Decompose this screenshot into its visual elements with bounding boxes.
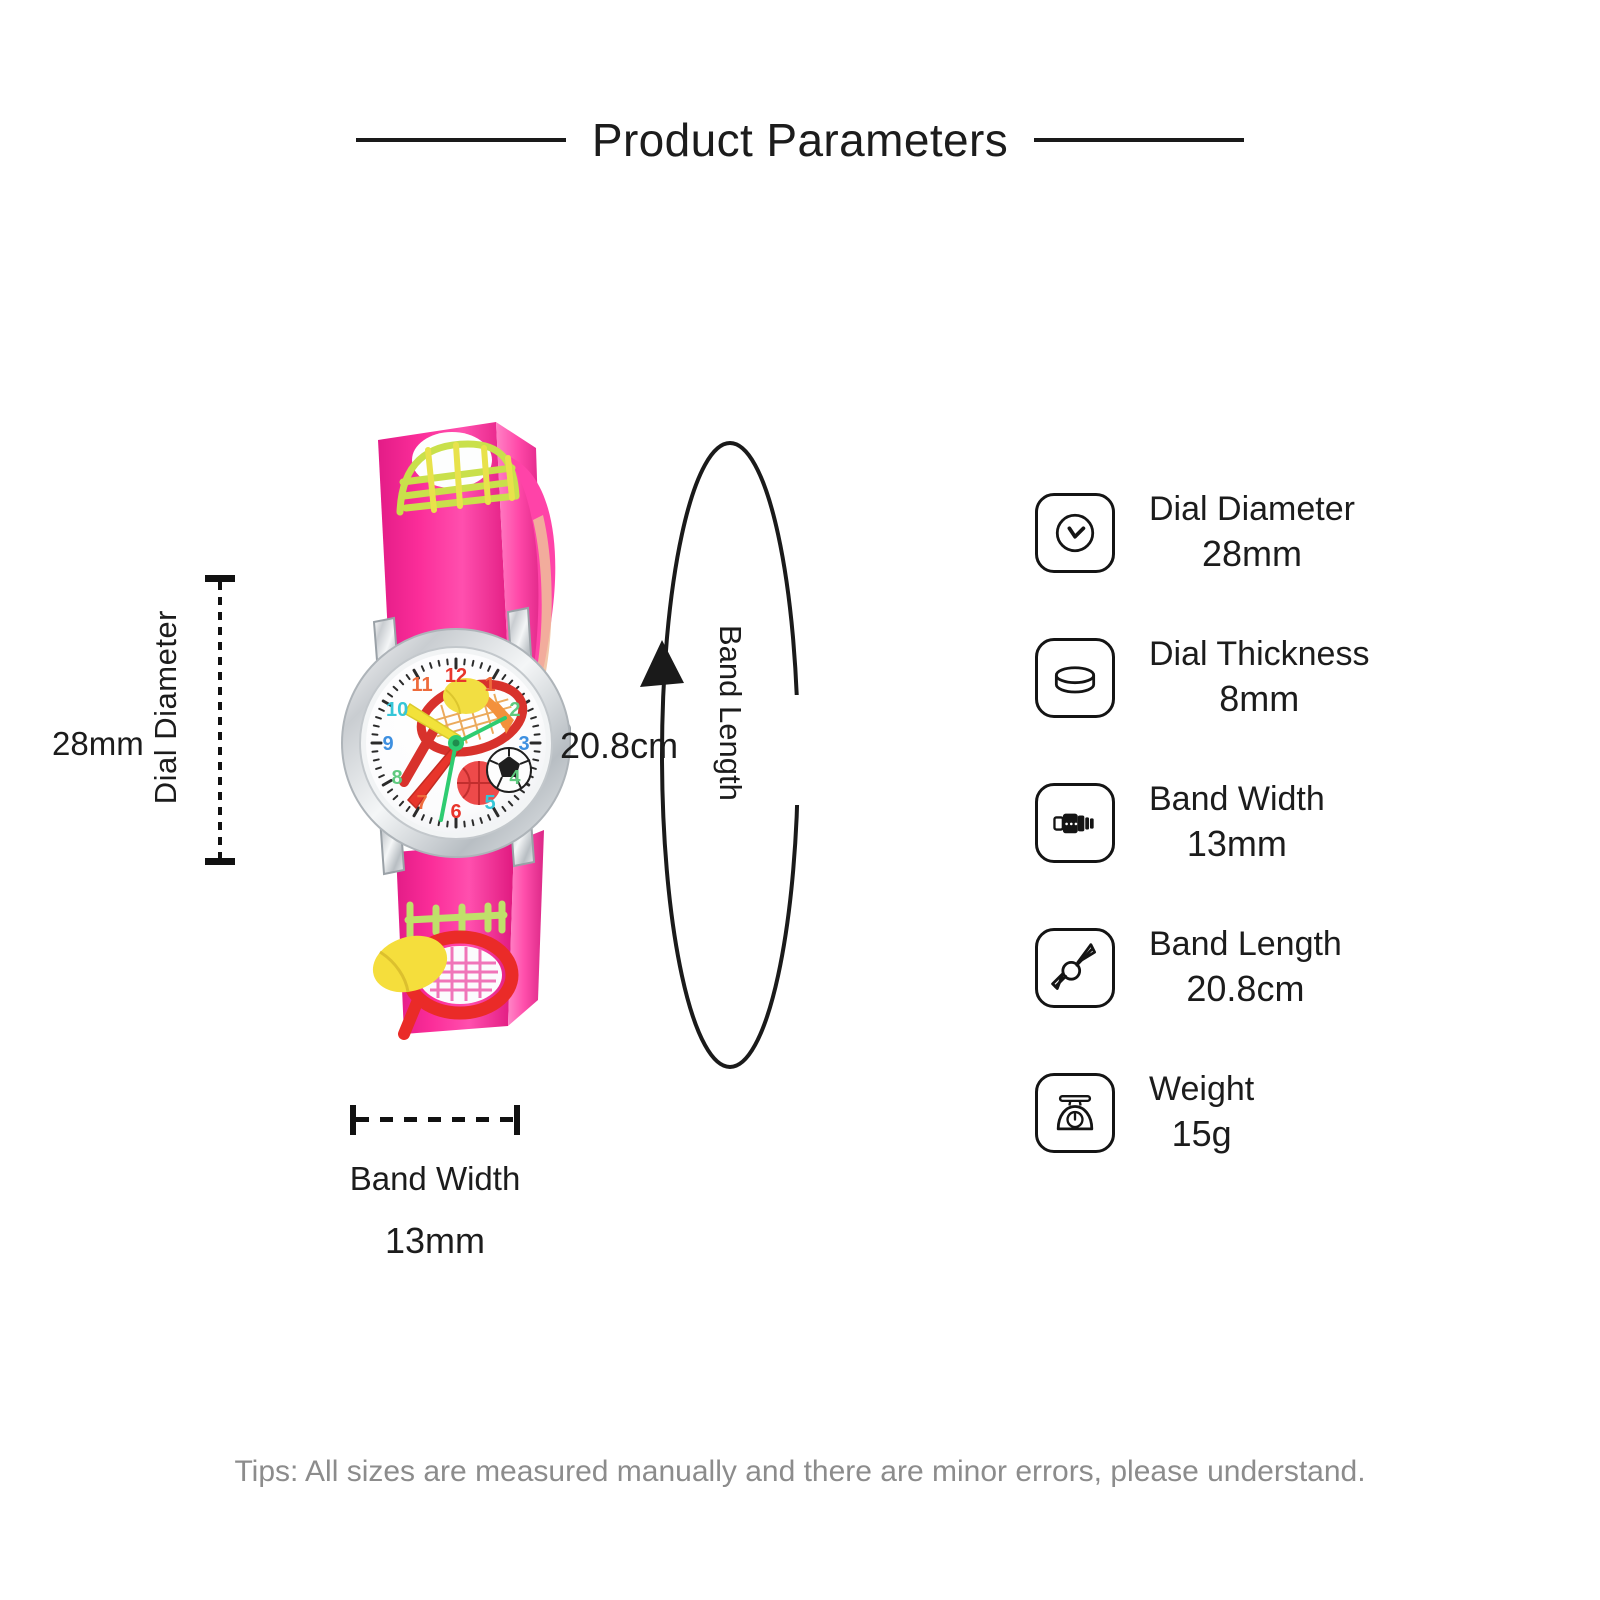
product-illustration-area: Dial Diameter 28mm [0, 380, 1000, 1300]
spec-text-weight: Weight 15g [1149, 1068, 1254, 1156]
watch-dial-icon [1035, 493, 1115, 573]
dial-diameter-label: Dial Diameter [148, 610, 184, 804]
dial-numeral: 6 [450, 801, 461, 823]
dial-diameter-dimension-line [205, 575, 235, 865]
footer-tips: Tips: All sizes are measured manually an… [0, 1455, 1600, 1489]
dimension-dashed-line-h [356, 1117, 514, 1122]
dial-numeral: 1 [484, 674, 495, 696]
header-rule-right [1034, 138, 1244, 142]
dial-numeral: 11 [411, 674, 432, 696]
spec-value: 13mm [1187, 821, 1287, 866]
spec-label: Dial Thickness [1149, 633, 1369, 676]
dimension-dashed-line [218, 582, 222, 858]
spec-text-band-width: Band Width 13mm [1149, 778, 1325, 866]
weight-scale-icon [1035, 1073, 1115, 1153]
dial-numeral: 10 [386, 699, 408, 721]
spec-row-dial-diameter: Dial Diameter 28mm [1035, 460, 1555, 605]
page-title: Product Parameters [592, 113, 1008, 167]
spec-text-dial-diameter: Dial Diameter 28mm [1149, 488, 1355, 576]
header: Product Parameters [0, 100, 1600, 180]
band-width-icon [1035, 783, 1115, 863]
product-parameters-page: Product Parameters Dial Diameter 28mm [0, 0, 1600, 1600]
band-length-label: Band Length [712, 625, 748, 801]
dial-numeral: 9 [382, 733, 393, 755]
dial-thickness-icon [1035, 638, 1115, 718]
band-width-value: 13mm [300, 1220, 570, 1262]
dial-numeral: 2 [509, 699, 520, 721]
spec-text-dial-thickness: Dial Thickness 8mm [1149, 633, 1369, 721]
band-length-loop: Band Length 20.8cm [600, 435, 860, 1075]
dial-numeral: 8 [392, 767, 403, 789]
spec-label: Band Length [1149, 923, 1342, 966]
spec-text-band-length: Band Length 20.8cm [1149, 923, 1342, 1011]
dial-diameter-value: 28mm [52, 725, 144, 763]
dial-numeral: 4 [509, 767, 521, 789]
spec-row-band-length: Band Length 20.8cm [1035, 895, 1555, 1040]
spec-value: 15g [1172, 1111, 1232, 1156]
spec-value: 8mm [1219, 676, 1299, 721]
spec-label: Dial Diameter [1149, 488, 1355, 531]
band-width-label: Band Width [300, 1160, 570, 1198]
header-rule-left [356, 138, 566, 142]
band-length-icon [1035, 928, 1115, 1008]
dial-numeral: 3 [518, 733, 529, 755]
dial-numeral: 12 [445, 665, 467, 687]
dial-numeral: 7 [416, 792, 427, 814]
spec-row-dial-thickness: Dial Thickness 8mm [1035, 605, 1555, 750]
band-length-value: 20.8cm [560, 725, 678, 767]
dimension-cap-right [514, 1105, 520, 1135]
dimension-cap-top [205, 575, 235, 582]
spec-label: Weight [1149, 1068, 1254, 1111]
loop-arrowhead [640, 640, 684, 687]
spec-row-weight: Weight 15g [1035, 1040, 1555, 1185]
spec-list: Dial Diameter 28mm Dial Thickness 8mm [1035, 460, 1555, 1185]
dimension-cap-bottom [205, 858, 235, 865]
dial-numeral: 5 [484, 792, 495, 814]
spec-row-band-width: Band Width 13mm [1035, 750, 1555, 895]
spec-value: 20.8cm [1186, 966, 1304, 1011]
spec-value: 28mm [1202, 531, 1302, 576]
spec-label: Band Width [1149, 778, 1325, 821]
band-width-dimension-line [350, 1105, 520, 1135]
